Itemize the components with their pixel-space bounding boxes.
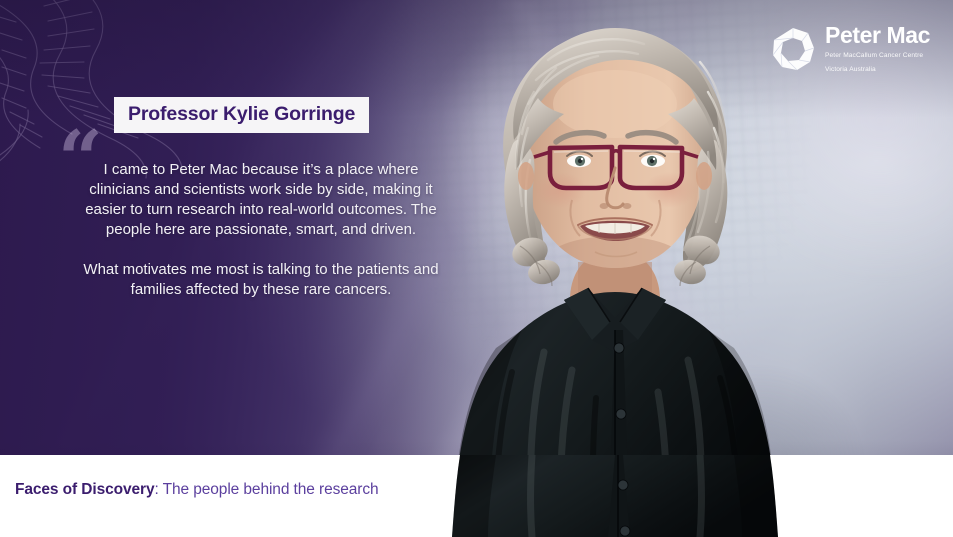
professor-name: Professor Kylie Gorringe	[128, 103, 355, 126]
logo-subtitle-line1: Peter MacCallum Cancer Centre	[825, 51, 930, 61]
bottom-caption-strong: Faces of Discovery	[15, 481, 155, 498]
bottom-caption: Faces of Discovery: The people behind th…	[15, 481, 379, 499]
bottom-bar: Faces of Discovery: The people behind th…	[0, 455, 953, 537]
quote-paragraph-2: What motivates me most is talking to the…	[72, 260, 450, 300]
quote-paragraph-1: I came to Peter Mac because it’s a place…	[72, 160, 450, 240]
faces-of-discovery-poster: Peter Mac Peter MacCallum Cancer Centre …	[0, 0, 953, 537]
bottom-caption-rest: : The people behind the research	[155, 481, 379, 498]
name-banner: Professor Kylie Gorringe	[114, 97, 369, 133]
logo-text-block: Peter Mac Peter MacCallum Cancer Centre …	[825, 24, 930, 74]
peter-mac-hexagon-icon	[770, 26, 816, 72]
logo-subtitle-line2: Victoria Australia	[825, 65, 930, 75]
peter-mac-logo: Peter Mac Peter MacCallum Cancer Centre …	[770, 24, 930, 74]
logo-wordmark: Peter Mac	[825, 24, 930, 47]
quote-block: I came to Peter Mac because it’s a place…	[72, 160, 450, 300]
